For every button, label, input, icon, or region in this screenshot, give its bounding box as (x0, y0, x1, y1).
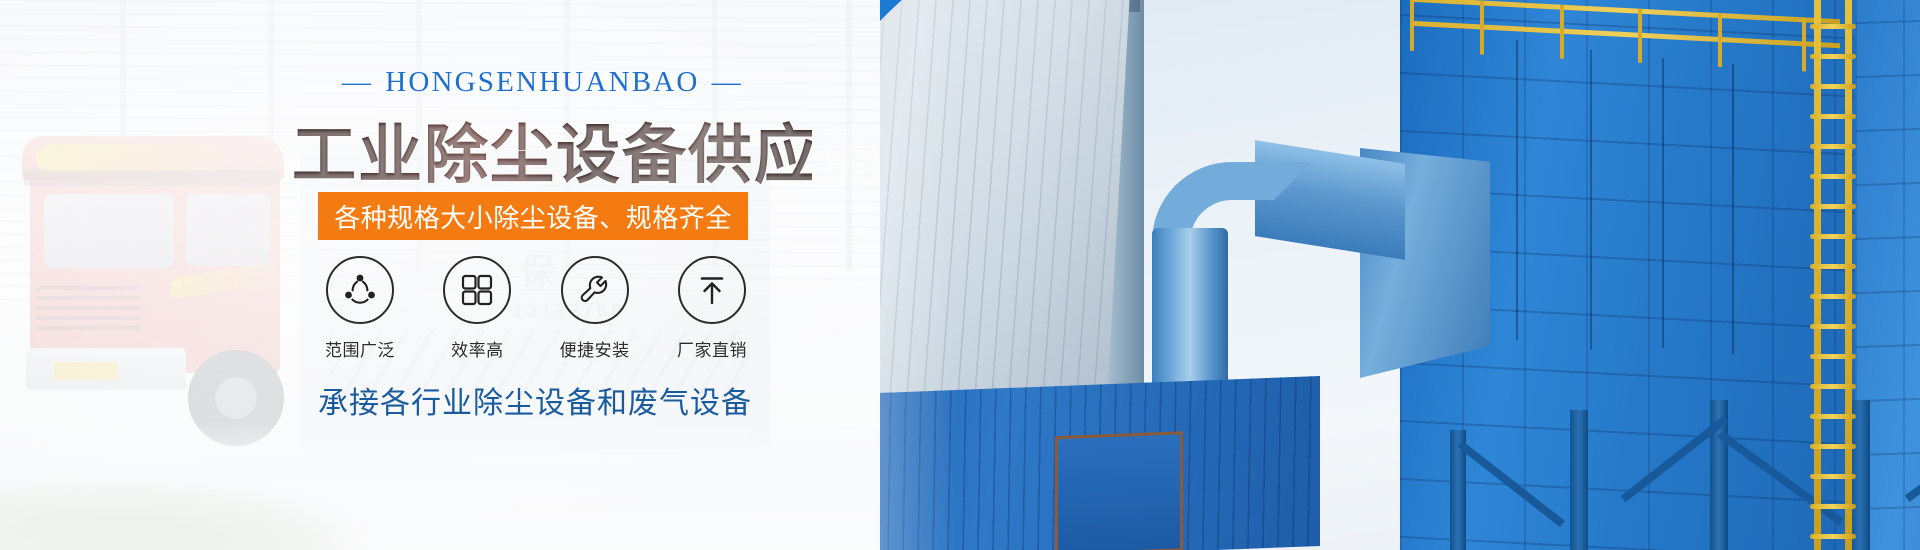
feature-icon-ring (326, 256, 394, 324)
feature-icon-ring (678, 256, 746, 324)
feature-icon-ring (561, 256, 629, 324)
feature-item-efficiency[interactable]: 效率高 (433, 256, 521, 361)
photo-edge-fade (800, 0, 1920, 550)
share-network-icon (340, 270, 380, 310)
feature-icon-ring (443, 256, 511, 324)
feature-list: 范围广泛 效率高 (316, 256, 756, 361)
grid-four-squares-icon (458, 271, 496, 309)
tagline: 承接各行业除尘设备和废气设备 (300, 378, 770, 422)
page-title: 工业除尘设备供应商 (292, 104, 812, 196)
wrench-icon (575, 270, 615, 310)
kicker-dash-left: — (342, 66, 373, 99)
industrial-plant-photo (800, 0, 1920, 550)
feature-item-installation[interactable]: 便捷安装 (551, 256, 639, 361)
feature-label: 范围广泛 (316, 336, 404, 361)
feature-label: 便捷安装 (551, 336, 639, 361)
kicker-text: HONGSENHUANBAO (385, 66, 699, 98)
feature-item-scope[interactable]: 范围广泛 (316, 256, 404, 361)
highlight-bar: 各种规格大小除尘设备、规格齐全 (318, 192, 748, 240)
kicker-pinyin: —HONGSENHUANBAO— (330, 66, 750, 99)
feature-label: 厂家直销 (668, 336, 756, 361)
upload-arrow-icon (693, 271, 731, 309)
feature-item-direct-sales[interactable]: 厂家直销 (668, 256, 756, 361)
highlight-bar-text: 各种规格大小除尘设备、规格齐全 (334, 198, 732, 235)
feature-label: 效率高 (433, 336, 521, 361)
kicker-dash-right: — (712, 66, 743, 99)
banner-content: —HONGSENHUANBAO— 工业除尘设备供应商 各种规格大小除尘设备、规格… (0, 0, 880, 550)
hero-banner: 保 13132769 —HONGSENHUANBAO— 工业除尘设备供应商 (0, 0, 1920, 550)
